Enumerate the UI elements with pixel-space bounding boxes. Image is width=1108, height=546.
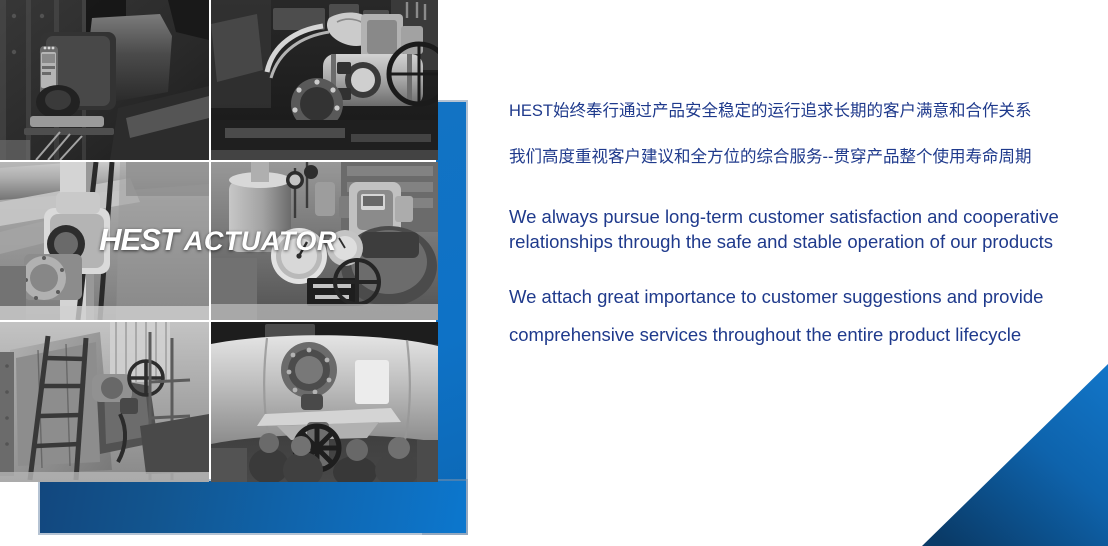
english-first-line-2: relationships through the safe and stabl… (509, 229, 1089, 254)
english-paragraph-first: We always pursue long-term customer sati… (509, 204, 1089, 254)
chinese-paragraph: HEST始终奉行通过产品安全稳定的运行追求长期的客户满意和合作关系 我们高度重视… (509, 88, 1089, 180)
collage-photo-workers-operating-handwheel-on-vessel (211, 322, 438, 482)
accent-bar-bottom (40, 481, 466, 533)
english-second-line-1: We attach great importance to customer s… (509, 278, 1089, 316)
chinese-line-2: 我们高度重视客户建议和全方位的综合服务--贯穿产品整个使用寿命周期 (509, 134, 1089, 180)
english-first-line-1: We always pursue long-term customer sati… (509, 204, 1089, 229)
photo-collage: HESTACTUATOR (0, 0, 436, 478)
text-panel: HEST始终奉行通过产品安全稳定的运行追求长期的客户满意和合作关系 我们高度重视… (509, 88, 1089, 354)
english-paragraph-second: We attach great importance to customer s… (509, 278, 1089, 354)
collage-photo-tank-with-access-ladder-and-actuator (0, 322, 209, 482)
collage-photo-actuator-on-large-pipeline-valve (0, 162, 209, 320)
collage-photo-pressure-gauges-and-actuator-bank (211, 162, 438, 320)
collage-photo-actuator-with-hydraulic-piping (211, 0, 438, 160)
collage-photo-electric-actuator-on-valve-closeup (0, 0, 209, 160)
corner-triangle-decoration (922, 364, 1108, 546)
chinese-line-1: HEST始终奉行通过产品安全稳定的运行追求长期的客户满意和合作关系 (509, 88, 1089, 134)
english-second-line-2: comprehensive services throughout the en… (509, 316, 1089, 354)
